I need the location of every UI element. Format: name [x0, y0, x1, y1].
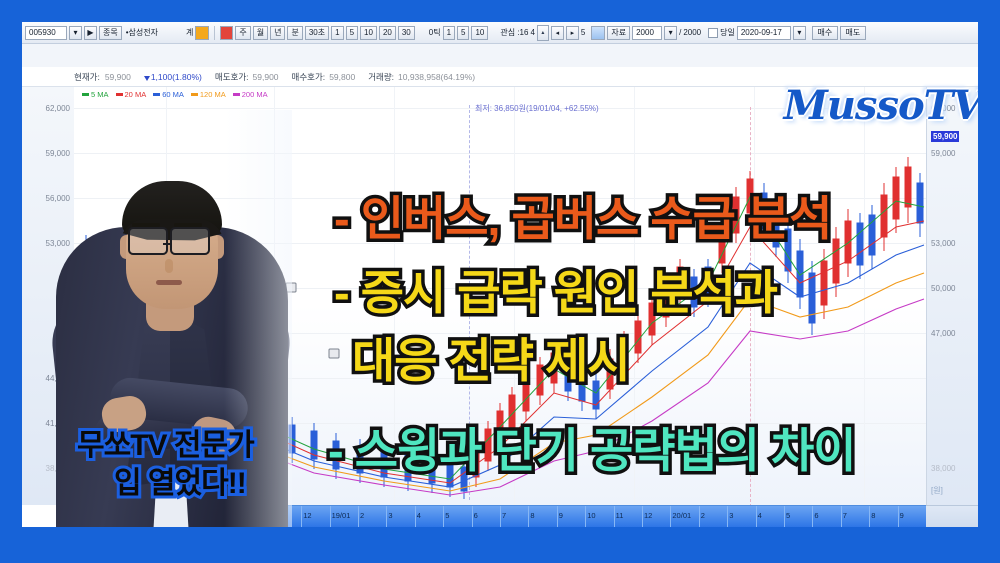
stock-code-input[interactable]: 005930 — [25, 26, 67, 40]
code-dropdown-icon[interactable]: ▾ — [69, 26, 82, 40]
y-tick: 47,000 — [931, 329, 955, 338]
x-tick-separator — [699, 506, 700, 527]
period-month-button[interactable]: 월 — [253, 26, 268, 40]
x-tick-separator — [386, 506, 387, 527]
interest-count-label: 관심 :16 — [500, 27, 528, 39]
tick-30s-button[interactable]: 30초 — [305, 26, 329, 40]
x-tick-label: 10 — [587, 511, 595, 520]
x-tick-separator — [443, 506, 444, 527]
x-tick-separator — [727, 506, 728, 527]
bid-price-label: 매수호가: — [292, 71, 326, 83]
period-week-button[interactable]: 주 — [235, 26, 250, 40]
data-total-label: 2000 — [683, 27, 701, 39]
headline-line-2: - 증시 급락 원인 분석과 — [334, 254, 777, 323]
x-tick-separator — [614, 506, 615, 527]
x-tick-label: 2 — [701, 511, 705, 520]
stock-name-label: •삼성전자 — [126, 27, 158, 39]
x-tick-separator — [869, 506, 870, 527]
x-tick-label: 8 — [530, 511, 534, 520]
period-minute-button[interactable]: 분 — [287, 26, 302, 40]
x-tick-label: 7 — [843, 511, 847, 520]
x-tick-separator — [898, 506, 899, 527]
x-tick-separator — [330, 506, 331, 527]
headline-line-4: - 스윙과 단기 공략법의 차이 — [328, 412, 856, 481]
down-arrow-icon — [144, 76, 150, 81]
caption-line-2: 입 열었다!! — [114, 458, 246, 502]
x-tick-separator — [841, 506, 842, 527]
x-tick-separator — [528, 506, 529, 527]
y-tick: 38,000 — [931, 464, 955, 473]
tick-5-button[interactable]: 5 — [346, 26, 358, 40]
date-input[interactable]: 2020-09-17 — [737, 26, 791, 40]
tick-30-button[interactable]: 30 — [398, 26, 415, 40]
x-tick-label: 5 — [786, 511, 790, 520]
color-swatch-icon[interactable] — [195, 26, 209, 40]
x-tick-separator — [472, 506, 473, 527]
x-tick-label: 4 — [417, 511, 421, 520]
tick-20-button[interactable]: 20 — [379, 26, 396, 40]
globe-icon[interactable] — [591, 26, 605, 40]
thumbnail-canvas: 005930 ▾ ▶ 종목 •삼성전자 계 주 월 년 분 30초 1 5 10… — [0, 0, 1000, 563]
y-tick: 50,000 — [931, 284, 955, 293]
x-tick-separator — [642, 506, 643, 527]
price-change: 1,100(1.80%) — [144, 72, 202, 82]
same-day-checkbox[interactable] — [708, 28, 718, 38]
x-tick-label: 3 — [729, 511, 733, 520]
x-tick-label: 6 — [814, 511, 818, 520]
volume-label: 거래량: — [368, 71, 394, 83]
period-year-button[interactable]: 년 — [270, 26, 285, 40]
y-axis-unit: [원] — [931, 485, 943, 496]
interest-number: 4 — [530, 27, 534, 39]
x-tick-separator — [585, 506, 586, 527]
toolbar-primary: 005930 ▾ ▶ 종목 •삼성전자 계 주 월 년 분 30초 1 5 10… — [22, 22, 978, 44]
x-tick-label: 11 — [616, 511, 624, 520]
x-tick-label: 4 — [758, 511, 762, 520]
x-tick-label: 9 — [559, 511, 563, 520]
x-tick-separator — [500, 506, 501, 527]
zero-1-button[interactable]: 1 — [443, 26, 455, 40]
x-axis-corner — [926, 505, 978, 527]
tick-1-button[interactable]: 1 — [331, 26, 343, 40]
ask-price-label: 매도호가: — [215, 71, 249, 83]
x-tick-label: 7 — [502, 511, 506, 520]
y-tick: 53,000 — [931, 239, 955, 248]
sell-button[interactable]: 매도 — [840, 26, 866, 40]
hts-window: 005930 ▾ ▶ 종목 •삼성전자 계 주 월 년 분 30초 1 5 10… — [22, 22, 978, 527]
stock-search-button[interactable]: 종목 — [99, 26, 122, 40]
channel-logo: MussoTV — [788, 74, 978, 136]
tick-10-button[interactable]: 10 — [360, 26, 377, 40]
x-tick-label: 3 — [388, 511, 392, 520]
zero-5-button[interactable]: 5 — [457, 26, 469, 40]
volume-value: 10,938,958(64.19%) — [398, 72, 475, 82]
channel-logo-text: MussoTV — [784, 82, 978, 129]
x-tick-label: 19/01 — [332, 511, 351, 520]
headline-line-1: - 인버스, 곱버스 수급 분석 — [334, 180, 831, 249]
current-price-value: 59,900 — [105, 72, 131, 82]
x-tick-label: 9 — [900, 511, 904, 520]
x-tick-separator — [415, 506, 416, 527]
spinner-up-icon[interactable]: ▴ — [537, 25, 549, 41]
x-tick-separator — [358, 506, 359, 527]
next-page-icon[interactable]: ▸ — [566, 26, 579, 40]
x-tick-label: 12 — [303, 511, 311, 520]
candle-type-icon[interactable] — [220, 26, 233, 40]
data-count-input[interactable]: 2000 — [632, 26, 662, 40]
zero-10-button[interactable]: 10 — [471, 26, 488, 40]
x-tick-label: 2 — [360, 511, 364, 520]
y-axis-right: 62,000 59,900 59,000 53,000 50,000 47,00… — [926, 87, 978, 505]
slash-label: / — [679, 27, 681, 39]
x-tick-separator — [301, 506, 302, 527]
count-label: 5 — [581, 27, 585, 39]
buy-button[interactable]: 매수 — [812, 26, 838, 40]
data-dropdown-icon[interactable]: ▾ — [664, 26, 677, 40]
x-tick-label: 20/01 — [672, 511, 691, 520]
calc-label: 계 — [186, 27, 193, 39]
x-tick-label: 6 — [474, 511, 478, 520]
x-tick-separator — [784, 506, 785, 527]
x-tick-label: 12 — [644, 511, 652, 520]
x-tick-separator — [670, 506, 671, 527]
bid-price-value: 59,800 — [329, 72, 355, 82]
date-dropdown-icon[interactable]: ▾ — [793, 26, 806, 40]
x-tick-separator — [812, 506, 813, 527]
x-tick-separator — [557, 506, 558, 527]
current-price-label: 현재가: — [74, 71, 100, 83]
zero-tick-label: 0틱 — [429, 27, 441, 39]
next-stock-button[interactable]: ▶ — [84, 26, 97, 40]
y-tick: 59,000 — [931, 149, 955, 158]
x-tick-label: 5 — [445, 511, 449, 520]
x-tick-separator — [756, 506, 757, 527]
data-button[interactable]: 자료 — [607, 26, 630, 40]
x-tick-label: 8 — [871, 511, 875, 520]
prev-page-icon[interactable]: ◂ — [551, 26, 564, 40]
same-day-label: 당일 — [720, 27, 735, 39]
ask-price-value: 59,900 — [253, 72, 279, 82]
headline-line-3: 대응 전략 제시 — [352, 322, 630, 391]
